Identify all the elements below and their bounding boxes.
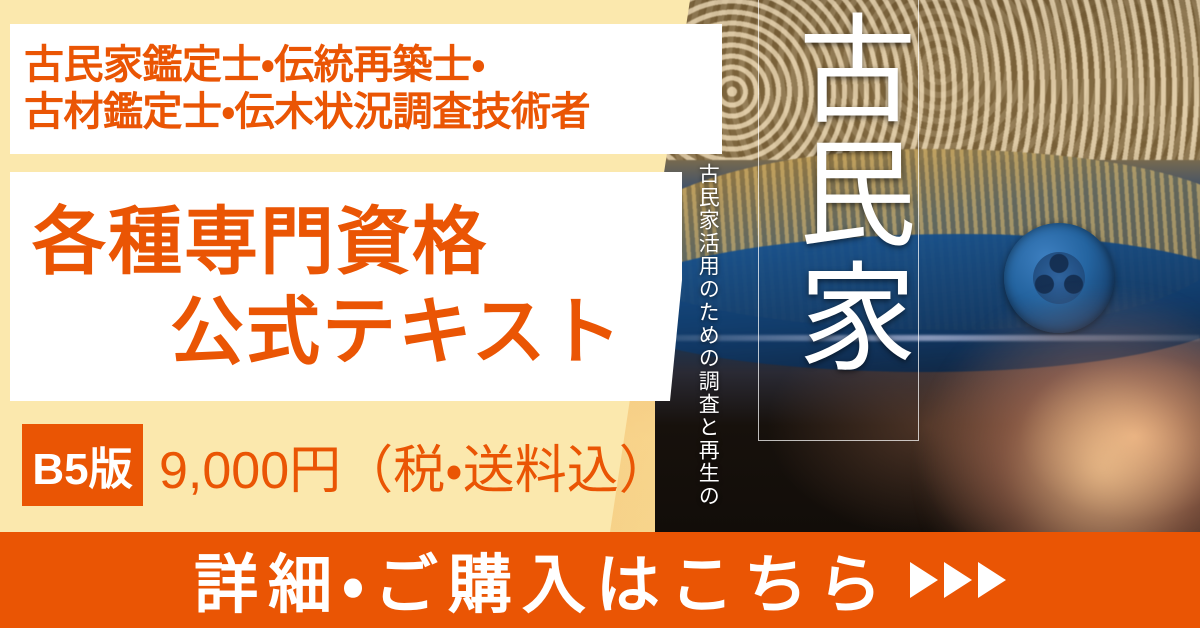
main-title-line-1: 各種専門資格 [10,205,682,279]
play-arrow-icon-2 [944,562,972,598]
promo-banner: 古民家 伝統構法、古民家活用のための調査と再生の 古民家鑑定士・伝統再築士・ 古… [0,0,1200,628]
main-title-block: 各種専門資格 公式テキスト [10,172,682,401]
cover-light-glow [906,293,1200,532]
book-cover-image: 古民家 伝統構法、古民家活用のための調査と再生の [655,0,1200,532]
format-badge: B5版 [22,424,143,506]
price-row: B5版 9,000円（税・送料込） [22,424,671,506]
carved-swirl-band [655,0,1200,160]
price-amount: 9,000円（税・送料込） [159,428,671,503]
play-arrow-icon-1 [910,562,938,598]
certifications-line-1: 古民家鑑定士・伝統再築士・ [24,42,722,89]
cta-arrow-group [910,562,1006,598]
certifications-line-2: 古材鑑定士・伝木状況調査技術者 [24,89,722,136]
play-arrow-icon-3 [978,562,1006,598]
cta-label: 詳細・ご購入はこちら [194,534,892,626]
cta-button[interactable]: 詳細・ご購入はこちら [0,532,1200,628]
main-title-line-2: 公式テキスト [10,295,682,369]
certifications-block: 古民家鑑定士・伝統再築士・ 古材鑑定士・伝木状況調査技術者 [10,24,722,154]
cover-title-text: 古民家 [765,8,911,380]
